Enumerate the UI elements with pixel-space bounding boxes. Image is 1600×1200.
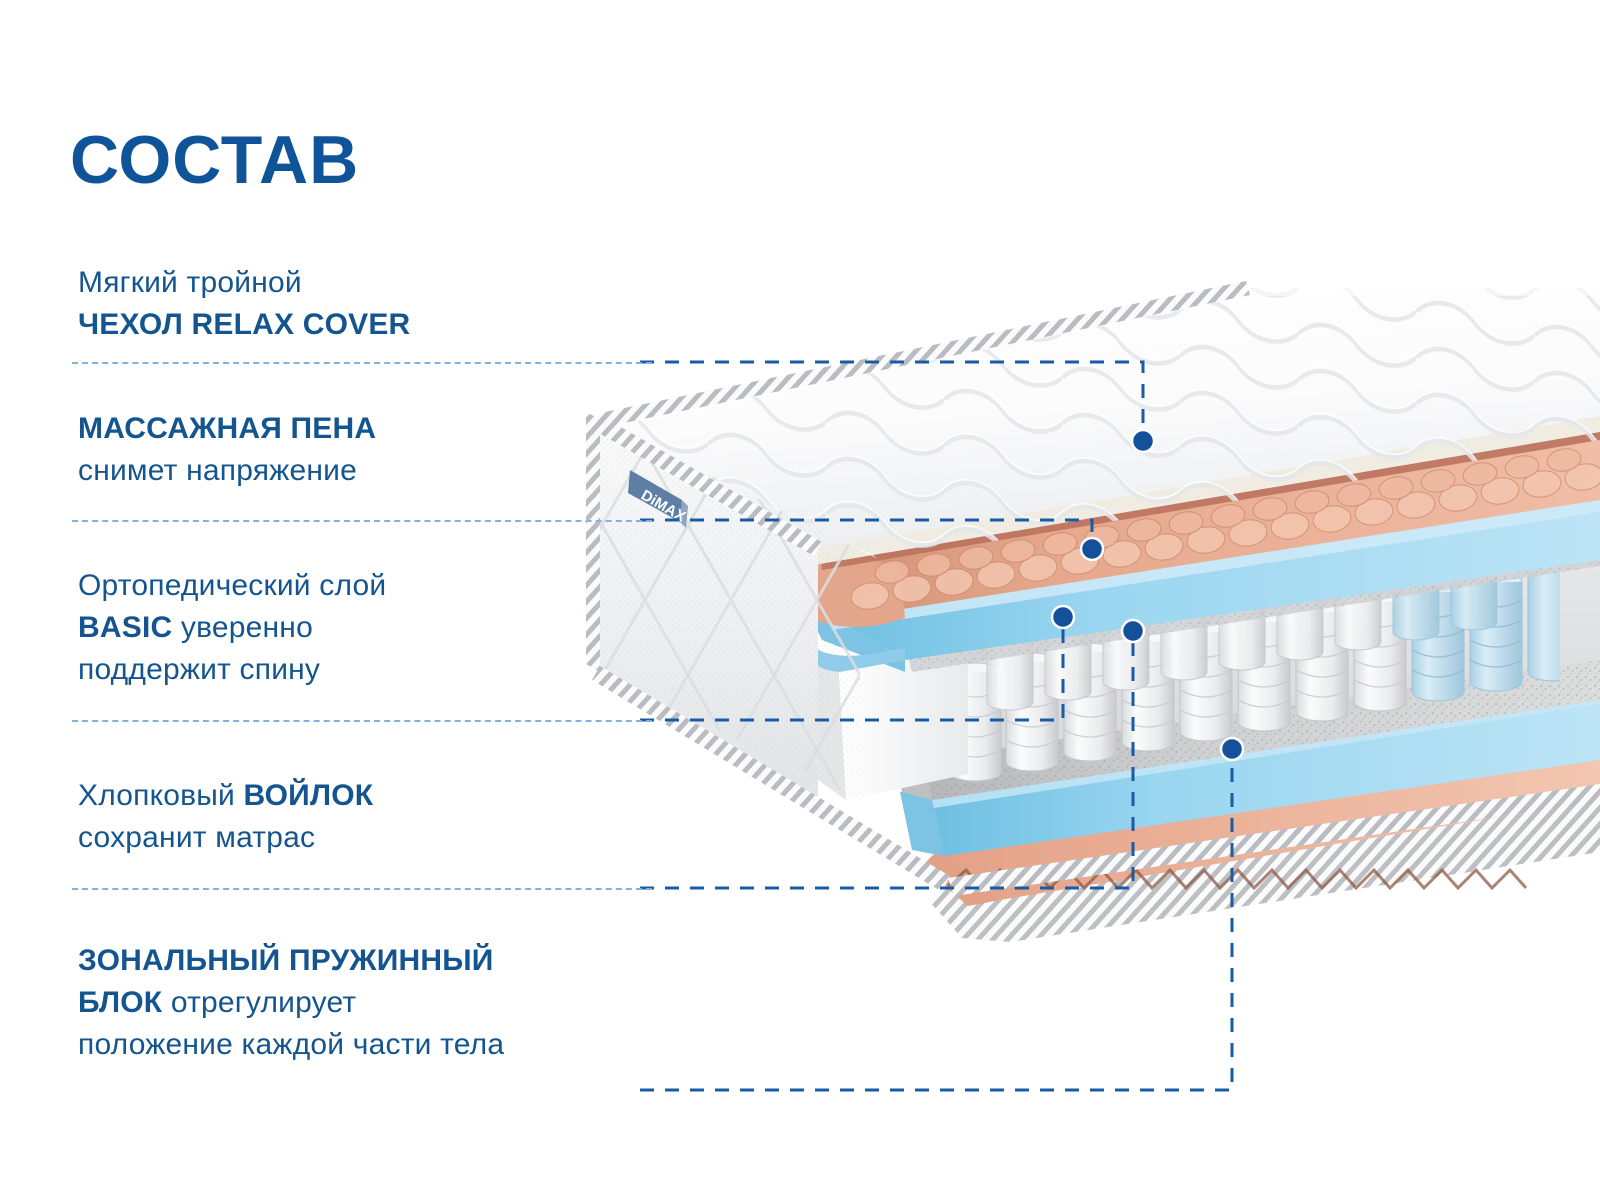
feature-springs-line1: ЗОНАЛЬНЫЙ ПРУЖИННЫЙ bbox=[78, 940, 504, 982]
feature-felt-line1: Хлопковый ВОЙЛОК bbox=[78, 775, 373, 817]
feature-basic-emphasis: BASIC bbox=[78, 611, 172, 644]
feature-basic-line1: Ортопедический слой bbox=[78, 565, 386, 607]
separator-after-felt bbox=[72, 888, 652, 890]
feature-springs-line3: положение каждой части тела bbox=[78, 1024, 504, 1066]
page-title: СОСТАВ bbox=[70, 126, 359, 194]
poster-canvas: DiMAX СОСТАВ Мягкий тройной ЧЕХОЛ RELA bbox=[0, 0, 1600, 1200]
feature-orthopedic-basic: Ортопедический слой BASIC уверенно подде… bbox=[78, 565, 386, 691]
feature-felt-emphasis: ВОЙЛОК bbox=[244, 779, 374, 812]
feature-massage-foam: МАССАЖНАЯ ПЕНА снимет напряжение bbox=[78, 408, 376, 492]
feature-cover-line2: ЧЕХОЛ RELAX COVER bbox=[78, 304, 410, 346]
separator-after-cover bbox=[72, 362, 652, 364]
feature-foam-line1: МАССАЖНАЯ ПЕНА bbox=[78, 408, 376, 450]
feature-zonal-spring-block: ЗОНАЛЬНЫЙ ПРУЖИННЫЙ БЛОК отрегулирует по… bbox=[78, 940, 504, 1066]
separator-after-foam bbox=[72, 520, 652, 522]
separator-after-basic bbox=[72, 720, 652, 722]
feature-foam-line2: снимет напряжение bbox=[78, 450, 376, 492]
feature-basic-line2: BASIC уверенно bbox=[78, 607, 386, 649]
feature-cover-line1: Мягкий тройной bbox=[78, 262, 410, 304]
feature-soft-triple-cover: Мягкий тройной ЧЕХОЛ RELAX COVER bbox=[78, 262, 410, 346]
feature-basic-line3: поддержит спину bbox=[78, 649, 386, 691]
feature-springs-line2: БЛОК отрегулирует bbox=[78, 982, 504, 1024]
feature-springs-emphasis: БЛОК bbox=[78, 986, 162, 1019]
feature-felt-line2: сохранит матрас bbox=[78, 817, 373, 859]
feature-cotton-felt: Хлопковый ВОЙЛОК сохранит матрас bbox=[78, 775, 373, 859]
